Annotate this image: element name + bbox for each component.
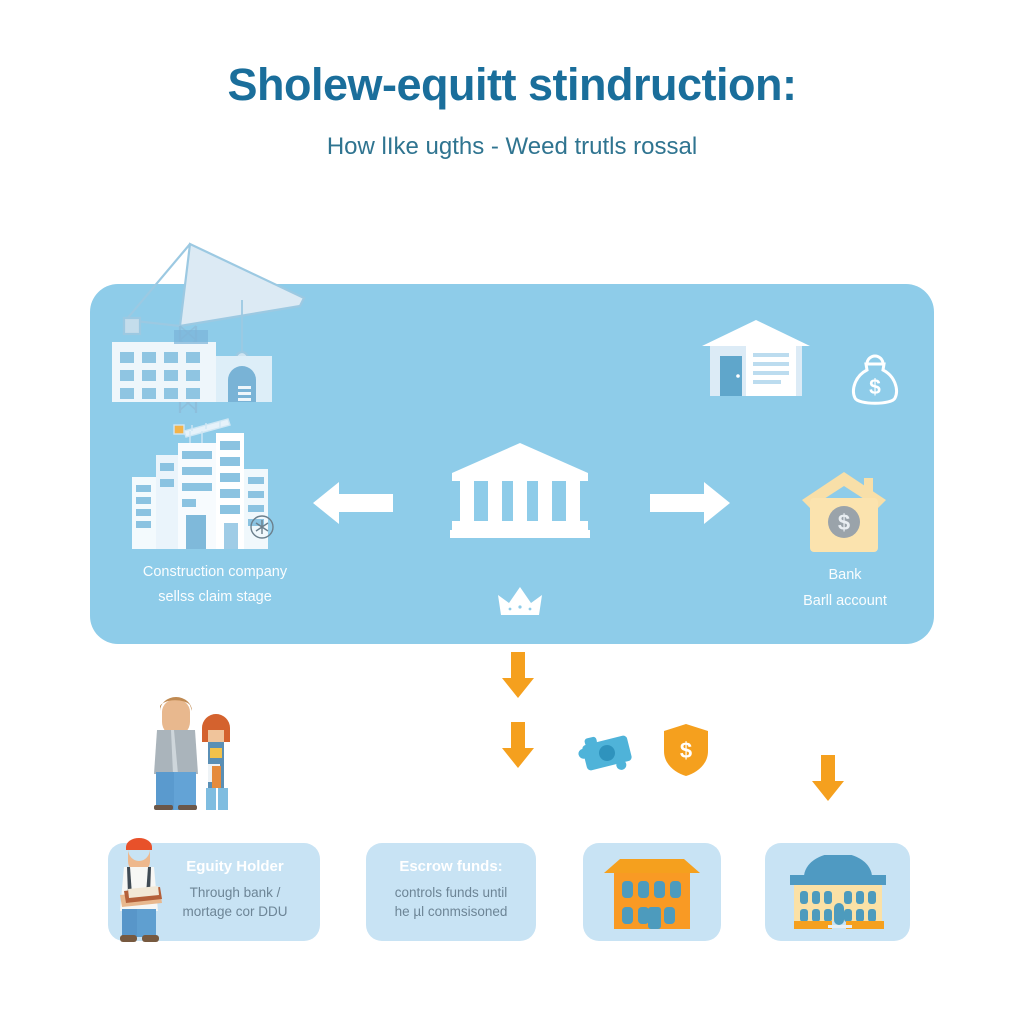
- card-2-body-line2: he µl conmsisoned: [366, 902, 536, 922]
- arrow-down-icon: [500, 722, 536, 768]
- arrow-left-icon: [313, 480, 393, 526]
- header: Sholew-equitt stindruction: How lIke ugt…: [0, 62, 1024, 161]
- svg-text:$: $: [680, 738, 692, 763]
- card-1-heading: Eguity Holder: [156, 857, 314, 877]
- worker-clipboard-illustration: [108, 833, 170, 945]
- arrow-down-icon: [500, 652, 536, 698]
- shield-dollar-icon: $: [662, 723, 710, 777]
- puzzle-camera-icon: [578, 728, 636, 778]
- crown-icon: [497, 585, 543, 617]
- card-2-heading: Escrow funds:: [366, 857, 536, 877]
- domed-government-building-icon: [778, 855, 898, 931]
- couple-illustration: [140, 692, 255, 810]
- label-bank: Bank Barll account: [760, 562, 930, 614]
- card-orange-building[interactable]: [583, 843, 721, 941]
- page-subtitle: How lIke ugths - Weed trutls rossal: [0, 107, 1024, 161]
- house-dollar-icon: $: [800, 470, 888, 552]
- bank-label-line1: Bank: [760, 562, 930, 588]
- construction-label-line2: sellss claim stage: [90, 585, 340, 610]
- card-2-text: Escrow funds: controls funds until he µl…: [366, 857, 536, 922]
- label-construction-company: Construction company sellss claim stage: [90, 560, 340, 611]
- money-bag-icon: $: [849, 352, 901, 408]
- construction-buildings-icon: [130, 415, 295, 550]
- arrow-down-icon: [810, 755, 846, 801]
- bank-label-line2: Barll account: [760, 588, 930, 614]
- card-government-building[interactable]: [765, 843, 910, 941]
- svg-text:$: $: [869, 376, 881, 399]
- warehouse-document-icon: [700, 318, 812, 396]
- page-title: Sholew-equitt stindruction:: [0, 62, 1024, 107]
- orange-apartment-icon: [598, 855, 706, 929]
- apartment-building-icon: [112, 330, 272, 402]
- arrow-right-icon: [650, 480, 730, 526]
- card-1-body-line2: mortage cor DDU: [156, 902, 314, 922]
- construction-label-line1: Construction company: [90, 560, 340, 585]
- svg-text:$: $: [838, 510, 850, 535]
- card-1-body-line1: Through bank /: [156, 883, 314, 903]
- bank-building-icon: [450, 443, 590, 538]
- card-escrow-funds[interactable]: Escrow funds: controls funds until he µl…: [366, 843, 536, 941]
- card-2-body-line1: controls funds until: [366, 883, 536, 903]
